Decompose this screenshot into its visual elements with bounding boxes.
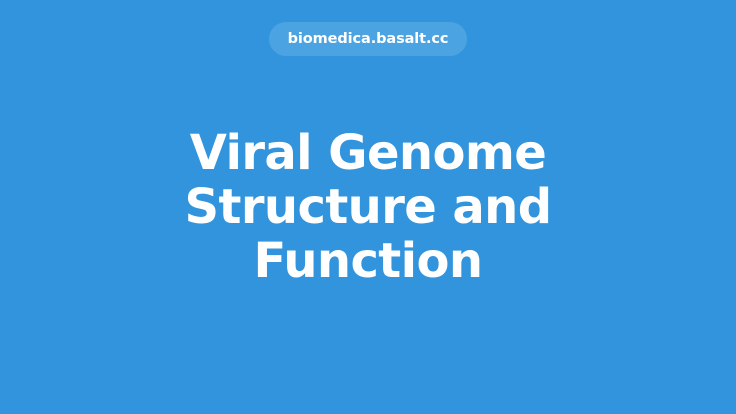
title-line-3: Function [88, 234, 648, 288]
title-slide: biomedica.basalt.cc Viral Genome Structu… [0, 0, 736, 414]
page-title: Viral Genome Structure and Function [88, 126, 648, 288]
title-line-2: Structure and [88, 180, 648, 234]
title-line-1: Viral Genome [88, 126, 648, 180]
site-domain-badge: biomedica.basalt.cc [269, 22, 468, 56]
badge-row: biomedica.basalt.cc [0, 22, 736, 56]
title-block: Viral Genome Structure and Function [0, 0, 736, 414]
